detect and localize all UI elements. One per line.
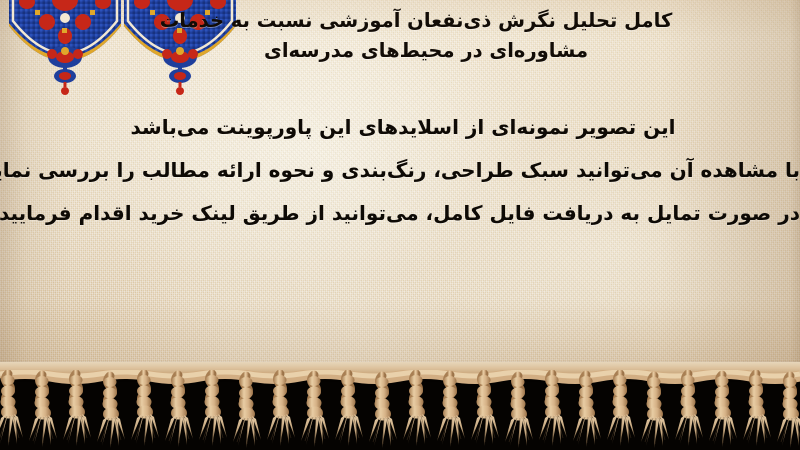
slide-title: کامل تحلیل نگرش ذی‌نفعان آموزشی نسبت به … xyxy=(26,6,786,66)
slide-body: این تصویر نمونه‌ای از اسلایدهای این پاور… xyxy=(0,106,800,235)
slide-body-line-2: با مشاهده آن می‌توانید سبک طراحی، رنگ‌بن… xyxy=(0,149,800,192)
slide-canvas: کامل تحلیل نگرش ذی‌نفعان آموزشی نسبت به … xyxy=(0,0,800,450)
fringe-knot-row xyxy=(0,370,800,450)
slide-title-line-1: کامل تحلیل نگرش ذی‌نفعان آموزشی نسبت به … xyxy=(26,6,786,36)
slide-body-line-1: این تصویر نمونه‌ای از اسلایدهای این پاور… xyxy=(0,106,800,149)
slide-body-line-3: در صورت تمایل به دریافت فایل کامل، می‌تو… xyxy=(0,192,800,235)
slide-title-line-2: مشاوره‌ای در محیط‌های مدرسه‌ای xyxy=(26,36,786,66)
carpet-fringe-tassels xyxy=(0,362,800,450)
